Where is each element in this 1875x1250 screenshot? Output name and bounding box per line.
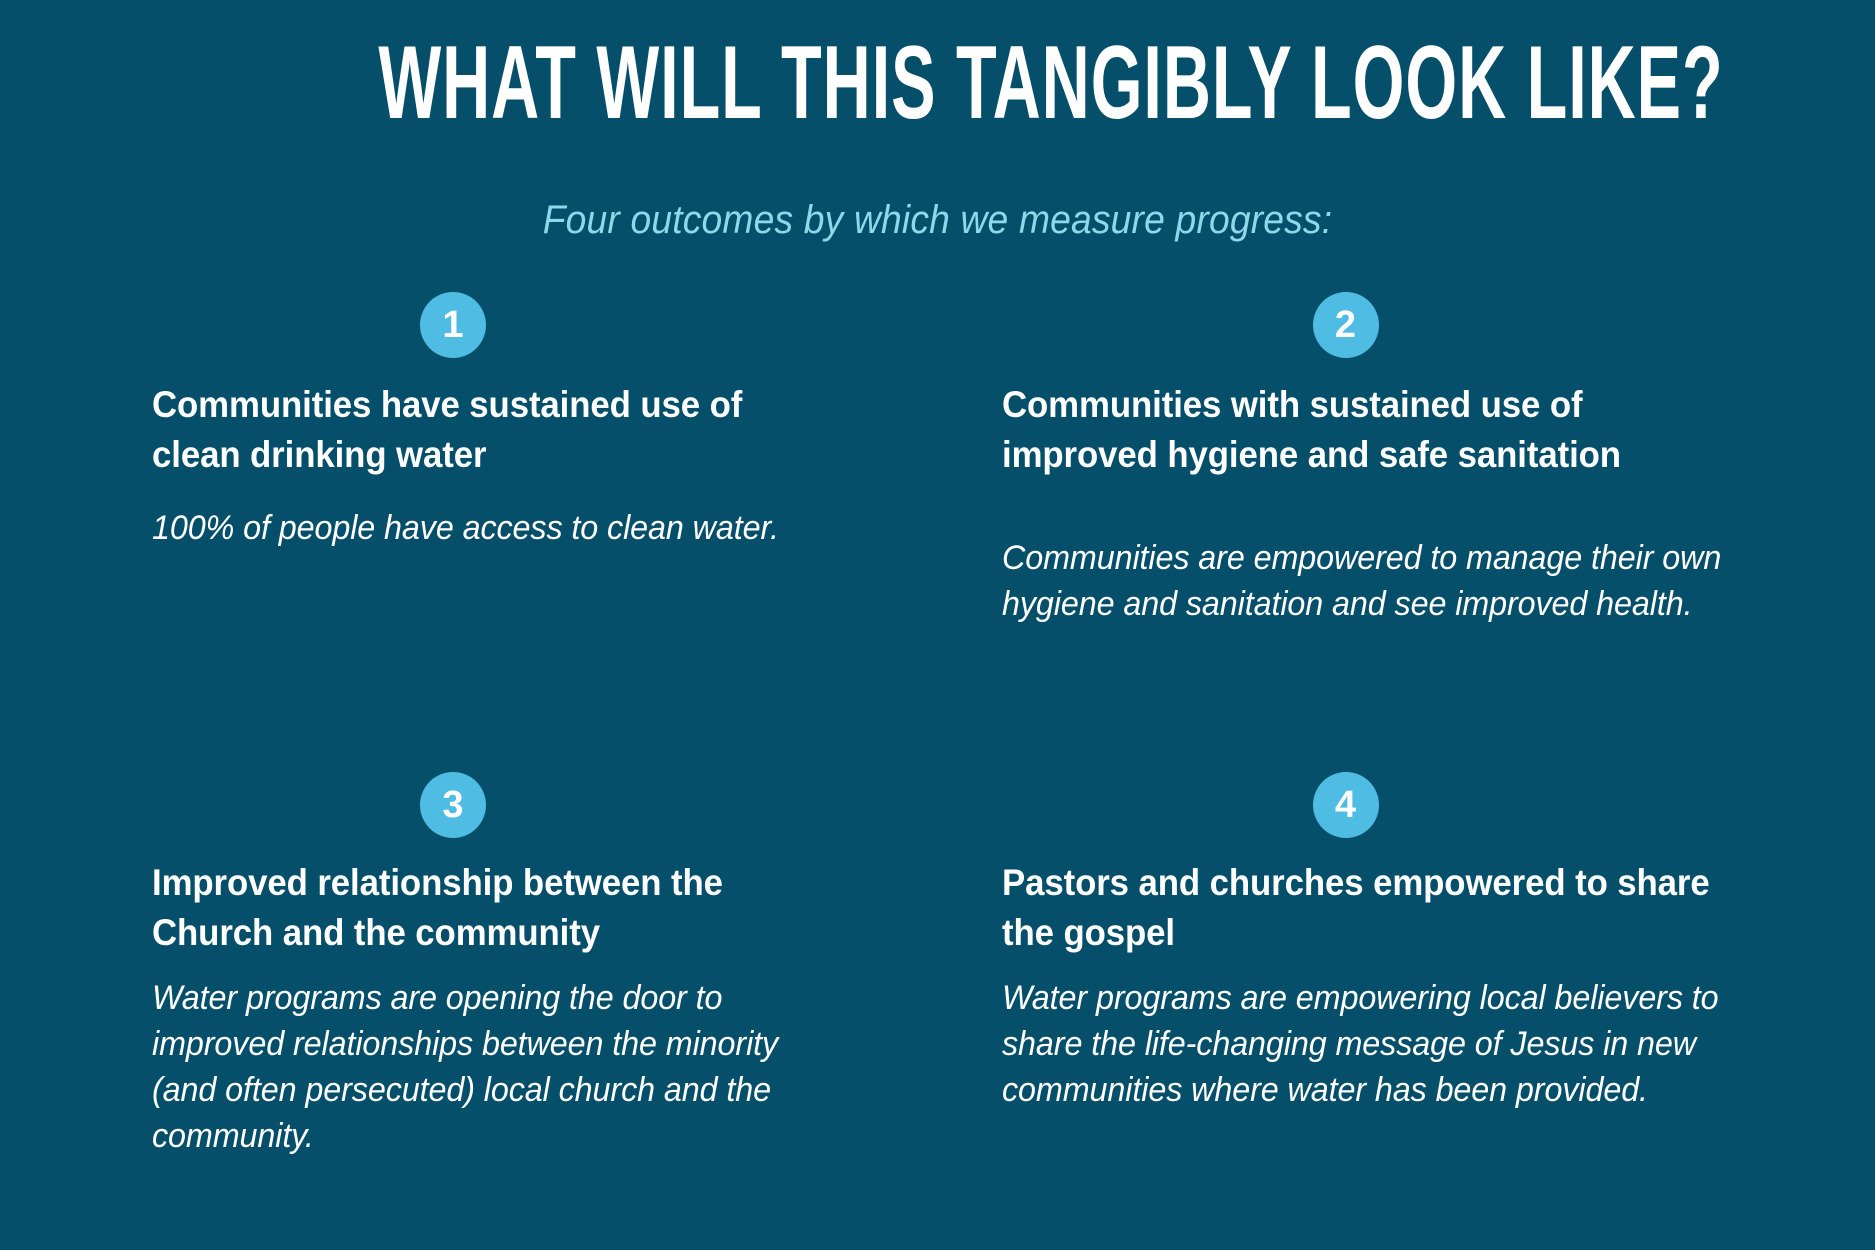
page-subtitle: Four outcomes by which we measure progre… xyxy=(543,196,1333,244)
outcome-card-4: 4 Pastors and churches empowered to shar… xyxy=(938,760,1875,1240)
title-container: What will this tangibly look like? xyxy=(0,28,1875,138)
outcomes-grid: 1 Communities have sustained use of clea… xyxy=(0,280,1875,1240)
outcome-heading-3: Improved relationship between the Church… xyxy=(152,760,834,958)
outcome-body-1: 100% of people have access to clean wate… xyxy=(152,480,841,552)
outcome-body-4: Water programs are empowering local beli… xyxy=(1002,958,1727,1114)
outcome-body-3: Water programs are opening the door to i… xyxy=(152,958,841,1160)
outcome-heading-4: Pastors and churches empowered to share … xyxy=(1002,760,1720,958)
subtitle-container: Four outcomes by which we measure progre… xyxy=(0,196,1875,244)
poster-canvas: What will this tangibly look like? Four … xyxy=(0,0,1875,1250)
outcome-card-3: 3 Improved relationship between the Chur… xyxy=(0,760,938,1240)
page-title: What will this tangibly look like? xyxy=(378,28,1723,138)
outcome-card-1: 1 Communities have sustained use of clea… xyxy=(0,280,938,760)
outcome-body-2: Communities are empowered to manage thei… xyxy=(1002,480,1727,628)
outcome-heading-1: Communities have sustained use of clean … xyxy=(152,280,834,480)
outcome-heading-2: Communities with sustained use of improv… xyxy=(1002,280,1720,480)
outcome-card-2: 2 Communities with sustained use of impr… xyxy=(938,280,1875,760)
